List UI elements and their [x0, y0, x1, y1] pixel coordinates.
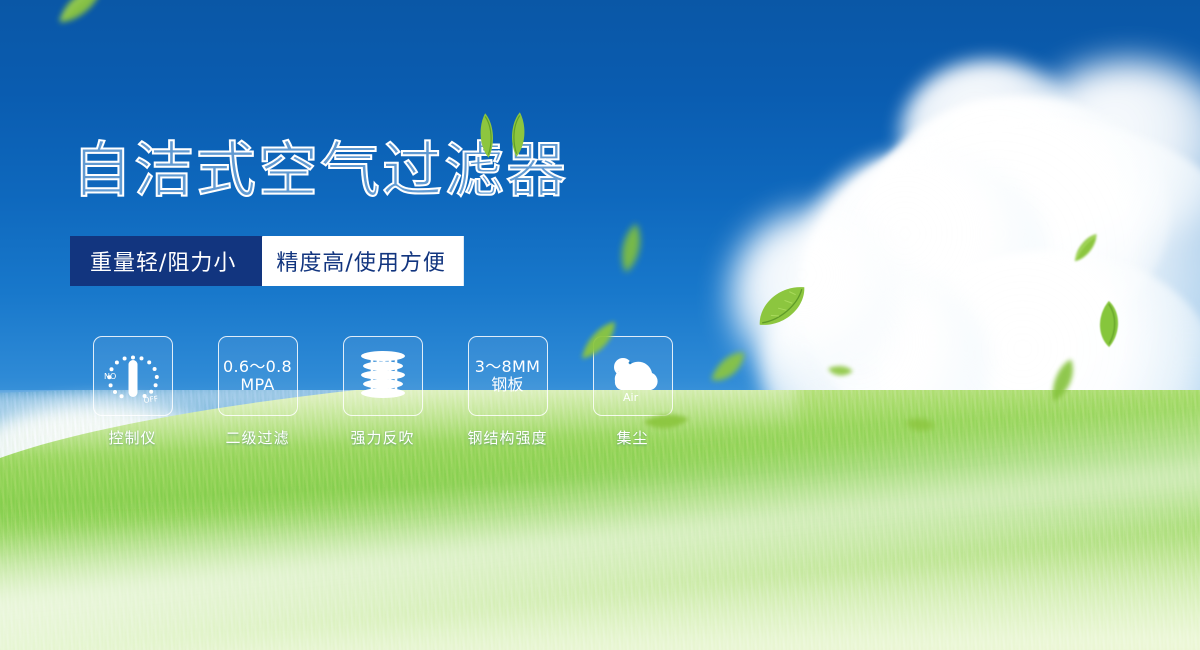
feature-label: 控制仪: [108, 427, 156, 448]
pressure-unit: MPA: [223, 376, 292, 394]
feature-item-backblow[interactable]: 强力反吹: [320, 336, 445, 448]
filter-cartridge-icon: [355, 347, 411, 405]
air-cloud-icon: Air: [601, 345, 665, 407]
air-label: Air: [623, 391, 639, 404]
feature-label: 集尘: [616, 427, 648, 448]
feature-list: NO OFF 控制仪 0.6～0.8 MPA 二级过滤: [70, 336, 695, 448]
page-title: 自洁式空气过滤器: [72, 141, 568, 201]
feature-item-dust[interactable]: Air 集尘: [570, 336, 695, 448]
feature-item-pressure[interactable]: 0.6～0.8 MPA 二级过滤: [195, 336, 320, 448]
steel-material: 钢板: [475, 376, 540, 394]
pressure-text-icon: 0.6～0.8 MPA: [223, 358, 292, 394]
subtitle-right: 精度高/使用方便: [246, 236, 463, 286]
feature-icon-box: NO OFF: [93, 336, 173, 416]
subtitle-left: 重量轻/阻力小: [70, 236, 262, 286]
feature-label: 二级过滤: [225, 427, 289, 448]
feature-item-steel[interactable]: 3～8MM 钢板 钢结构强度: [445, 336, 570, 448]
feature-icon-box: [343, 336, 423, 416]
feature-label: 强力反吹: [350, 427, 414, 448]
grass-path: [0, 507, 1200, 650]
feature-icon-box: Air: [593, 336, 673, 416]
control-dial-icon: NO OFF: [100, 345, 166, 407]
product-banner: 自洁式空气过滤器 重量轻/阻力小 精度高/使用方便: [0, 0, 1200, 650]
subtitle-bar: 重量轻/阻力小 精度高/使用方便: [70, 236, 462, 286]
steel-plate-text-icon: 3～8MM 钢板: [475, 358, 540, 394]
dial-on-label: NO: [104, 372, 116, 381]
steel-thickness: 3～8MM: [475, 358, 540, 376]
feature-label: 钢结构强度: [467, 427, 547, 448]
dial-off-label: OFF: [143, 394, 159, 405]
feature-icon-box: 3～8MM 钢板: [468, 336, 548, 416]
feature-icon-box: 0.6～0.8 MPA: [218, 336, 298, 416]
pressure-value: 0.6～0.8: [223, 358, 292, 376]
feature-item-control-dial[interactable]: NO OFF 控制仪: [70, 336, 195, 448]
